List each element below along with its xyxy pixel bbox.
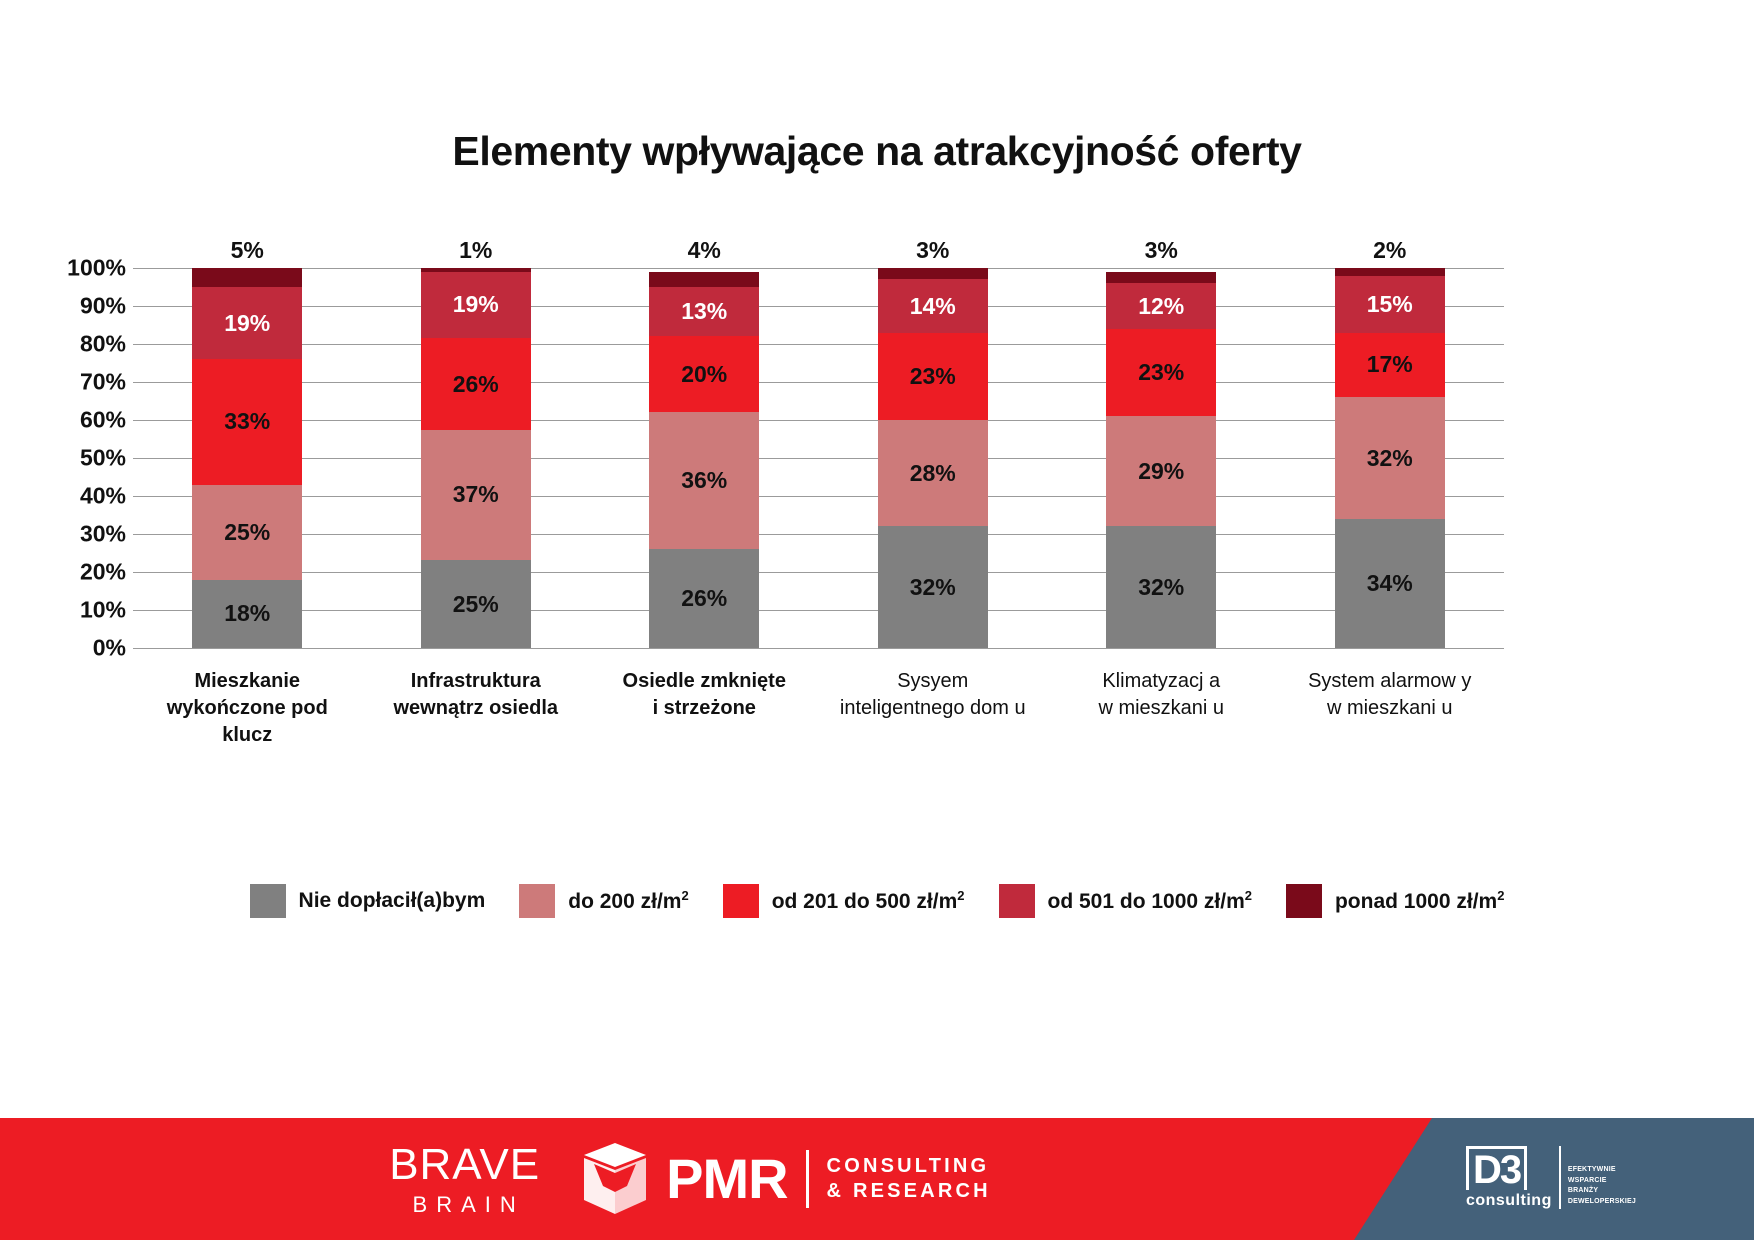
d3-tagline: EFEKTYWNIE WSPARCIE BRANŻY DEWELOPERSKIE… (1568, 1165, 1636, 1209)
brave-brain-line2: BRAIN (389, 1194, 540, 1216)
bar-top-value-5: 3% (1106, 237, 1216, 264)
bar-segment-1-4[interactable]: 19% (192, 287, 302, 359)
x-axis-label-line: wewnątrz osiedla (361, 695, 591, 722)
d3-tagline-line3: BRANŻY (1568, 1186, 1636, 1197)
bar-column-6[interactable]: 34%32%17%15%2% (1335, 268, 1445, 648)
pmr-divider (806, 1150, 809, 1208)
bar-stack: 18%25%33%19% (192, 268, 302, 648)
bar-column-5[interactable]: 32%29%23%12%3% (1106, 268, 1216, 648)
y-axis-tick-80: 80% (30, 333, 126, 356)
bar-segment-3-1[interactable]: 26% (649, 549, 759, 648)
bar-column-2[interactable]: 25%37%26%19%1% (421, 268, 531, 648)
legend-swatch-4 (999, 884, 1035, 918)
bar-segment-4-5[interactable] (878, 268, 988, 279)
bar-segment-1-3[interactable]: 33% (192, 359, 302, 484)
d3-consulting-logo: D3 consulting EFEKTYWNIE WSPARCIE BRANŻY… (1466, 1146, 1636, 1209)
legend-label-superscript: 2 (681, 888, 688, 903)
bar-stack: 32%29%23%12% (1106, 268, 1216, 648)
legend-label-5: ponad 1000 zł/m2 (1335, 888, 1504, 914)
gridline-50 (133, 458, 1504, 459)
bar-stack: 26%36%20%13% (649, 268, 759, 648)
legend-item-5[interactable]: ponad 1000 zł/m2 (1286, 884, 1504, 918)
y-axis-tick-60: 60% (30, 409, 126, 432)
legend-swatch-1 (250, 884, 286, 918)
y-axis-tick-100: 100% (30, 257, 126, 280)
gridline-10 (133, 610, 1504, 611)
d3-tagline-line2: WSPARCIE (1568, 1176, 1636, 1187)
d3-mark: D3 consulting (1466, 1146, 1552, 1209)
bar-top-value-4: 3% (878, 237, 988, 264)
d3-tagline-line4: DEWELOPERSKIEJ (1568, 1197, 1636, 1208)
legend-label-superscript: 2 (1497, 888, 1504, 903)
y-axis-tick-90: 90% (30, 295, 126, 318)
bar-segment-5-1[interactable]: 32% (1106, 526, 1216, 648)
y-axis-tick-40: 40% (30, 485, 126, 508)
bar-segment-4-4[interactable]: 14% (878, 279, 988, 332)
x-axis-label-line: Infrastruktura (361, 668, 591, 695)
gridline-40 (133, 496, 1504, 497)
bar-segment-2-1[interactable]: 25% (421, 560, 531, 648)
bar-segment-4-2[interactable]: 28% (878, 420, 988, 526)
y-axis-tick-50: 50% (30, 447, 126, 470)
bar-segment-6-1[interactable]: 34% (1335, 519, 1445, 648)
pmr-wordmark: PMR (666, 1151, 787, 1207)
y-axis-tick-20: 20% (30, 561, 126, 584)
bar-segment-5-3[interactable]: 23% (1106, 329, 1216, 416)
legend-label-4: od 501 do 1000 zł/m2 (1048, 888, 1252, 914)
legend-swatch-3 (723, 884, 759, 918)
x-axis-label-line: Sysyem (818, 668, 1048, 695)
legend-label-1: Nie dopłacił(a)bym (299, 889, 486, 913)
legend-label-superscript: 2 (1245, 888, 1252, 903)
x-axis-label-line: w mieszkani u (1046, 695, 1276, 722)
plot-area: 18%25%33%19%5%25%37%26%19%1%26%36%20%13%… (133, 268, 1504, 648)
page-title: Elementy wpływające na atrakcyjność ofer… (0, 128, 1754, 175)
bar-top-value-6: 2% (1335, 237, 1445, 264)
bar-segment-4-3[interactable]: 23% (878, 333, 988, 420)
chart-legend: Nie dopłacił(a)bymdo 200 zł/m2od 201 do … (0, 884, 1754, 918)
y-axis-tick-30: 30% (30, 523, 126, 546)
gridline-60 (133, 420, 1504, 421)
footer-logo-group: BRAVE BRAIN PMR CONSULTING & RESEARCH (0, 1118, 1380, 1240)
bar-column-3[interactable]: 26%36%20%13%4% (649, 268, 759, 648)
x-axis-label-line: Osiedle zmknięte (589, 668, 819, 695)
y-axis: 100%90%80%70%60%50%40%30%20%10%0% (30, 252, 126, 664)
y-axis-tick-70: 70% (30, 371, 126, 394)
y-axis-tick-10: 10% (30, 599, 126, 622)
brave-brain-logo: BRAVE BRAIN (389, 1143, 540, 1216)
bar-segment-5-5[interactable] (1106, 272, 1216, 283)
x-axis-label-line: Klimatyzacj a (1046, 668, 1276, 695)
bar-segment-5-4[interactable]: 12% (1106, 283, 1216, 329)
d3-tagline-line1: EFEKTYWNIE (1568, 1165, 1636, 1176)
x-axis-label-2: Infrastrukturawewnątrz osiedla (361, 668, 591, 722)
x-axis-label-line: klucz (132, 722, 362, 749)
bar-segment-1-5[interactable] (192, 268, 302, 287)
bar-top-value-3: 4% (649, 237, 759, 264)
bar-segment-6-5[interactable] (1335, 268, 1445, 276)
bar-segment-3-4[interactable]: 13% (649, 287, 759, 336)
gridline-80 (133, 344, 1504, 345)
x-axis-label-line: wykończone pod (132, 695, 362, 722)
legend-swatch-5 (1286, 884, 1322, 918)
bar-stack: 34%32%17%15% (1335, 268, 1445, 648)
d3-letters: D3 (1466, 1146, 1527, 1190)
d3-divider (1559, 1146, 1561, 1209)
x-axis-label-line: Mieszkanie (132, 668, 362, 695)
bar-segment-3-5[interactable] (649, 272, 759, 287)
legend-label-3: od 201 do 500 zł/m2 (772, 888, 965, 914)
x-axis-label-6: System alarmow yw mieszkani u (1275, 668, 1505, 722)
pmr-subtitle: CONSULTING & RESEARCH (827, 1154, 991, 1204)
gridline-20 (133, 572, 1504, 573)
gridline-100 (133, 268, 1504, 269)
bar-column-4[interactable]: 32%28%23%14%3% (878, 268, 988, 648)
brave-brain-line1: BRAVE (389, 1143, 540, 1187)
bar-top-value-1: 5% (192, 237, 302, 264)
x-axis-label-line: i strzeżone (589, 695, 819, 722)
bar-segment-2-2[interactable]: 37% (421, 430, 531, 560)
legend-item-3[interactable]: od 201 do 500 zł/m2 (723, 884, 965, 918)
y-axis-tick-0: 0% (30, 637, 126, 660)
x-axis-label-line: inteligentnego dom u (818, 695, 1048, 722)
legend-swatch-2 (519, 884, 555, 918)
x-axis-label-5: Klimatyzacj aw mieszkani u (1046, 668, 1276, 722)
d3-consulting-word: consulting (1466, 1193, 1552, 1209)
pmr-cube-icon (582, 1142, 648, 1216)
legend-label-2: do 200 zł/m2 (568, 888, 688, 914)
bar-top-value-2: 1% (421, 237, 531, 264)
pmr-logo: PMR CONSULTING & RESEARCH (582, 1142, 991, 1216)
bar-segment-1-1[interactable]: 18% (192, 580, 302, 648)
bar-segment-6-2[interactable]: 32% (1335, 397, 1445, 519)
bar-segment-5-2[interactable]: 29% (1106, 416, 1216, 526)
pmr-subtitle-line1: CONSULTING (827, 1154, 991, 1179)
gridline-30 (133, 534, 1504, 535)
bar-segment-2-3[interactable]: 26% (421, 338, 531, 429)
bar-segment-3-3[interactable]: 20% (649, 336, 759, 412)
gridline-0 (133, 648, 1504, 649)
bar-column-1[interactable]: 18%25%33%19%5% (192, 268, 302, 648)
slide-canvas: Elementy wpływające na atrakcyjność ofer… (0, 0, 1754, 1240)
x-axis-label-3: Osiedle zmkniętei strzeżone (589, 668, 819, 722)
gridline-70 (133, 382, 1504, 383)
bar-stack: 32%28%23%14% (878, 268, 988, 648)
bar-segment-6-4[interactable]: 15% (1335, 276, 1445, 333)
legend-label-superscript: 2 (957, 888, 964, 903)
legend-item-1[interactable]: Nie dopłacił(a)bym (250, 884, 486, 918)
footer-banner: BRAVE BRAIN PMR CONSULTING & RESEARCH (0, 1118, 1754, 1240)
bar-stack: 25%37%26%19% (421, 268, 531, 648)
gridline-90 (133, 306, 1504, 307)
legend-item-2[interactable]: do 200 zł/m2 (519, 884, 688, 918)
legend-item-4[interactable]: od 501 do 1000 zł/m2 (999, 884, 1252, 918)
x-axis-label-1: Mieszkaniewykończone podklucz (132, 668, 362, 749)
bar-segment-6-3[interactable]: 17% (1335, 333, 1445, 398)
bar-segment-3-2[interactable]: 36% (649, 412, 759, 549)
pmr-subtitle-line2: & RESEARCH (827, 1179, 991, 1204)
x-axis-label-line: w mieszkani u (1275, 695, 1505, 722)
bar-segment-1-2[interactable]: 25% (192, 485, 302, 580)
bar-segment-4-1[interactable]: 32% (878, 526, 988, 648)
bar-segment-2-4[interactable]: 19% (421, 272, 531, 339)
x-axis-label-line: System alarmow y (1275, 668, 1505, 695)
x-axis-label-4: Sysyeminteligentnego dom u (818, 668, 1048, 722)
